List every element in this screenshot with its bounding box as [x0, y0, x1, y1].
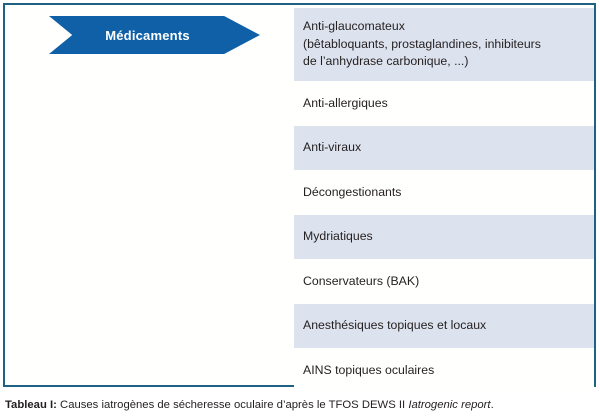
table-row: Anti-glaucomateux (bêtabloquants, prosta… [294, 8, 594, 81]
table-row: Décongestionants [294, 170, 594, 215]
caption-source-title: Iatrogenic report [408, 399, 490, 411]
category-label: Décongestionants [303, 184, 401, 202]
category-label: Anti-allergiques [303, 95, 388, 113]
category-label: Anti-glaucomateux (bêtabloquants, prosta… [303, 18, 541, 71]
table-row: Anti-viraux [294, 126, 594, 171]
table-row: Conservateurs (BAK) [294, 259, 594, 304]
table-row: Mydriatiques [294, 215, 594, 260]
table-figure: Médicaments Anti-glaucomateux (bêtabloqu… [0, 0, 600, 420]
table-row: Anti-allergiques [294, 81, 594, 126]
table-row: Anesthésiques topiques et locaux [294, 304, 594, 349]
category-list: Anti-glaucomateux (bêtabloquants, prosta… [294, 5, 594, 385]
table-caption: Tableau I: Causes iatrogènes de sécheres… [5, 398, 597, 412]
category-label: Mydriatiques [303, 228, 373, 246]
caption-body: Causes iatrogènes de sécheresse oculaire… [57, 399, 408, 411]
category-label: Anesthésiques topiques et locaux [303, 317, 486, 335]
caption-tail: . [491, 399, 494, 411]
category-label: Conservateurs (BAK) [303, 273, 419, 291]
table-frame: Médicaments Anti-glaucomateux (bêtabloqu… [3, 3, 596, 387]
category-group-column: Médicaments [5, 5, 294, 385]
caption-label: Tableau I: [5, 399, 57, 411]
table-row: AINS topiques oculaires [294, 348, 594, 393]
arrow-banner-label: Médicaments [105, 28, 204, 43]
medicaments-arrow-banner: Médicaments [49, 16, 260, 54]
category-label: AINS topiques oculaires [303, 362, 434, 380]
category-label: Anti-viraux [303, 139, 361, 157]
